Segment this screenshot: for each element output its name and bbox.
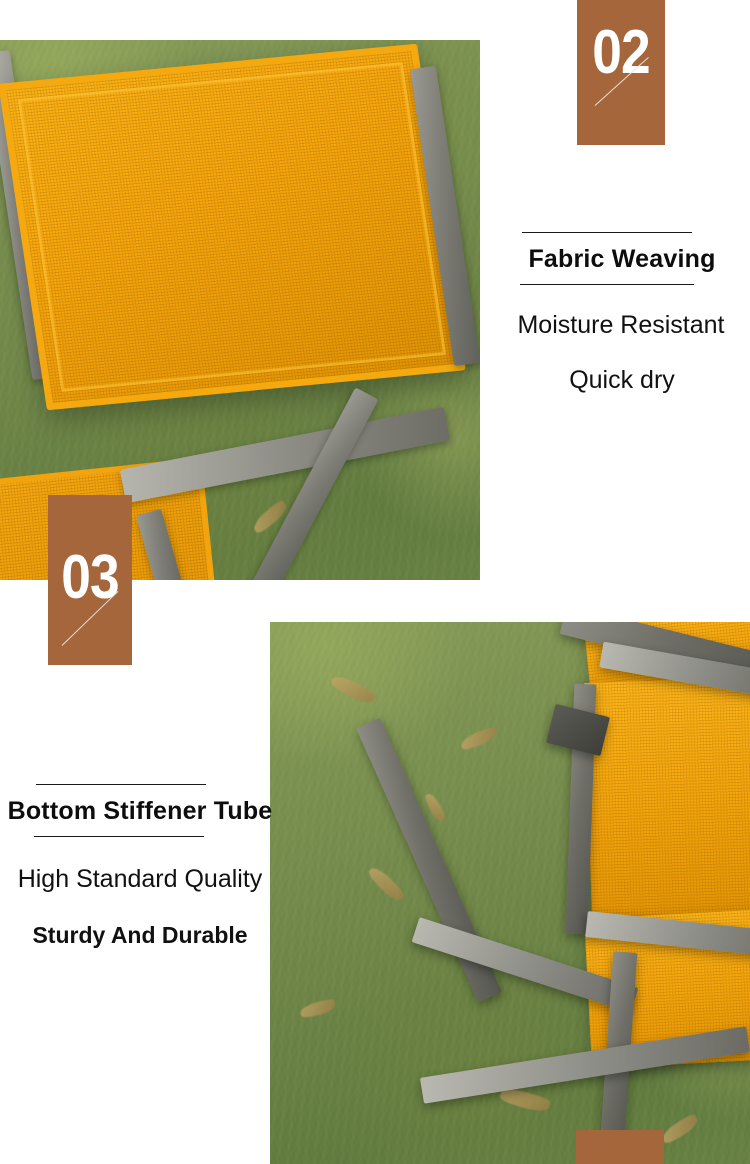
heading-rule-top — [36, 784, 206, 785]
feature-heading: Bottom Stiffener Tube — [0, 797, 280, 826]
mesh-inner-border — [18, 62, 447, 392]
backrest-mesh-panel — [0, 44, 466, 411]
heading-rule-bottom — [34, 836, 204, 837]
product-feature-page: 02 03 Fabric Weaving Moisture Resistant … — [0, 0, 750, 1164]
feature-text-bottom-stiffener-tube: Bottom Stiffener Tube High Standard Qual… — [0, 784, 280, 949]
step-badge-02: 02 — [577, 0, 665, 145]
mesh-texture — [584, 677, 750, 923]
feature-subtitle-1: Moisture Resistant — [480, 311, 750, 340]
step-badge-03-number: 03 — [54, 547, 126, 609]
step-badge-02-number: 02 — [583, 22, 659, 84]
step-badge-03: 03 — [48, 495, 132, 665]
heading-rule-top — [522, 232, 692, 233]
heading-rule-bottom — [520, 284, 694, 285]
feature-subtitle-2: Sturdy And Durable — [0, 922, 280, 949]
photo-chair-frame-bottom-tube — [270, 622, 750, 1164]
feature-subtitle-2: Quick dry — [480, 366, 750, 395]
fabric-panel-middle — [584, 677, 750, 923]
feature-subtitle-1: High Standard Quality — [0, 865, 280, 894]
feature-heading: Fabric Weaving — [480, 245, 750, 274]
feature-text-fabric-weaving: Fabric Weaving Moisture Resistant Quick … — [480, 232, 750, 395]
step-badge-04-partial — [576, 1130, 664, 1164]
